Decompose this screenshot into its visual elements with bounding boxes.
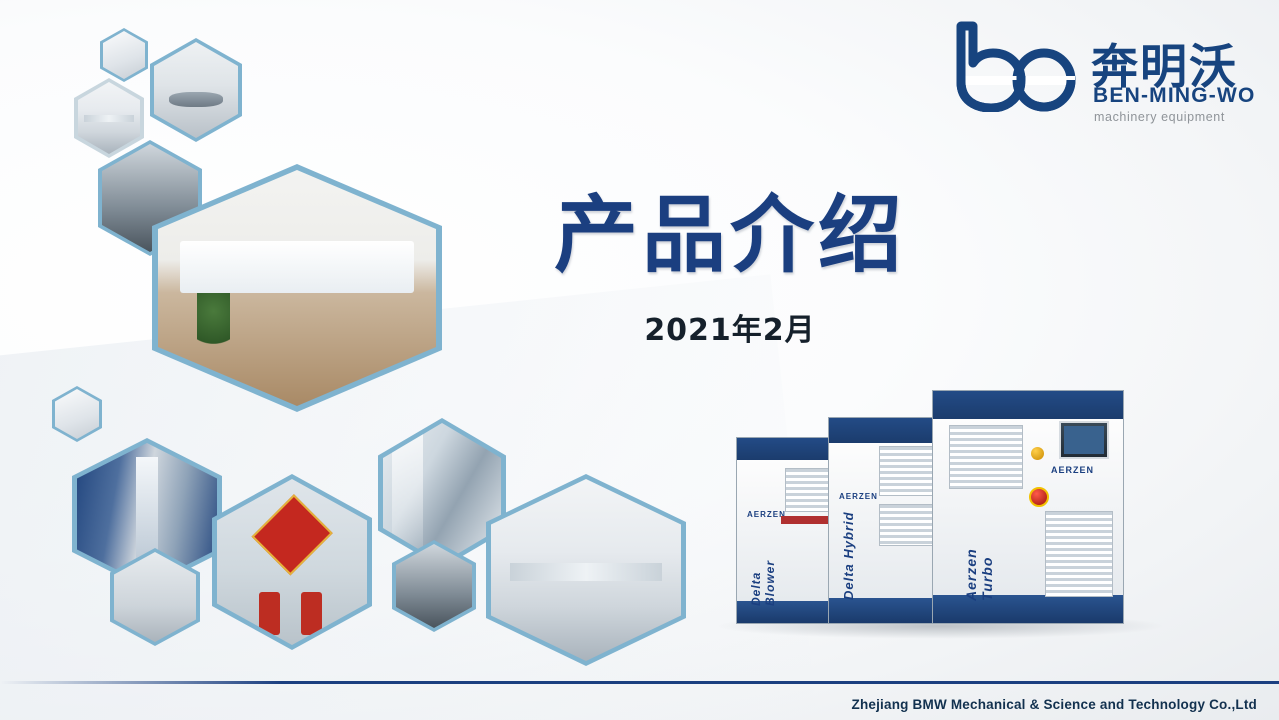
machine-unit-delta-blower: AERZEN Delta Blower	[736, 437, 842, 624]
decor-vase-right	[301, 592, 322, 635]
company-logo: 奔明沃 BEN-MING-WO machinery equipment	[951, 18, 1251, 133]
hex-image	[103, 31, 145, 79]
unit-grille	[949, 425, 1023, 489]
footer-divider	[0, 681, 1279, 684]
unit-grille-right	[1045, 511, 1113, 597]
hex-photo-open-office	[486, 474, 686, 666]
bo-monogram-icon	[951, 20, 1079, 112]
hmi-touch-panel[interactable]	[1059, 421, 1109, 459]
decor-diamond	[251, 495, 333, 577]
hex-image	[396, 544, 472, 628]
hex-photo-workstation	[74, 78, 144, 158]
hex-image	[114, 552, 196, 642]
slide-canvas: 奔明沃 BEN-MING-WO machinery equipment 产品介绍…	[0, 0, 1279, 720]
emergency-stop-icon[interactable]	[1029, 487, 1049, 507]
unit-top-band	[737, 438, 841, 460]
unit-top-band	[829, 418, 945, 443]
hex-image	[217, 479, 367, 645]
decor-vase-left	[259, 592, 280, 635]
hex-photo-entrance-door	[212, 474, 372, 650]
hex-image	[491, 479, 681, 661]
machine-unit-delta-hybrid: AERZEN Delta Hybrid	[828, 417, 946, 624]
machine-unit-aerzen-turbo: AERZEN Aerzen Turbo	[932, 390, 1124, 624]
logo-english-name: BEN-MING-WO	[1093, 84, 1256, 108]
unit-grille	[879, 446, 939, 496]
unit-model-label: Delta Blower	[749, 524, 777, 606]
unit-top-band	[933, 391, 1123, 419]
hex-photo-meeting-room	[150, 38, 242, 142]
unit-base	[829, 598, 945, 623]
hex-image	[383, 423, 501, 563]
aerzen-blower-lineup-photo: AERZEN Delta Blower AERZEN Delta Hybrid …	[700, 385, 1180, 650]
hex-photo-white-cabinet	[52, 386, 102, 442]
hex-image	[154, 42, 238, 138]
logo-tagline: machinery equipment	[1094, 110, 1225, 124]
unit-brand-label: AERZEN	[1051, 465, 1094, 475]
unit-model-label: Aerzen Turbo	[963, 501, 995, 601]
unit-model-label: Delta Hybrid	[841, 508, 856, 600]
unit-base	[933, 595, 1123, 623]
unit-brand-label: AERZEN	[839, 492, 878, 501]
unit-sticker	[781, 516, 835, 524]
hex-image	[55, 389, 99, 439]
hex-photo-elevator	[100, 28, 148, 82]
unit-grille-lower	[879, 504, 939, 546]
company-photo-hex-collage	[0, 0, 720, 700]
control-knob-icon[interactable]	[1031, 447, 1044, 460]
hex-image	[78, 82, 140, 154]
footer-company-name: Zhejiang BMW Mechanical & Science and Te…	[852, 697, 1258, 712]
